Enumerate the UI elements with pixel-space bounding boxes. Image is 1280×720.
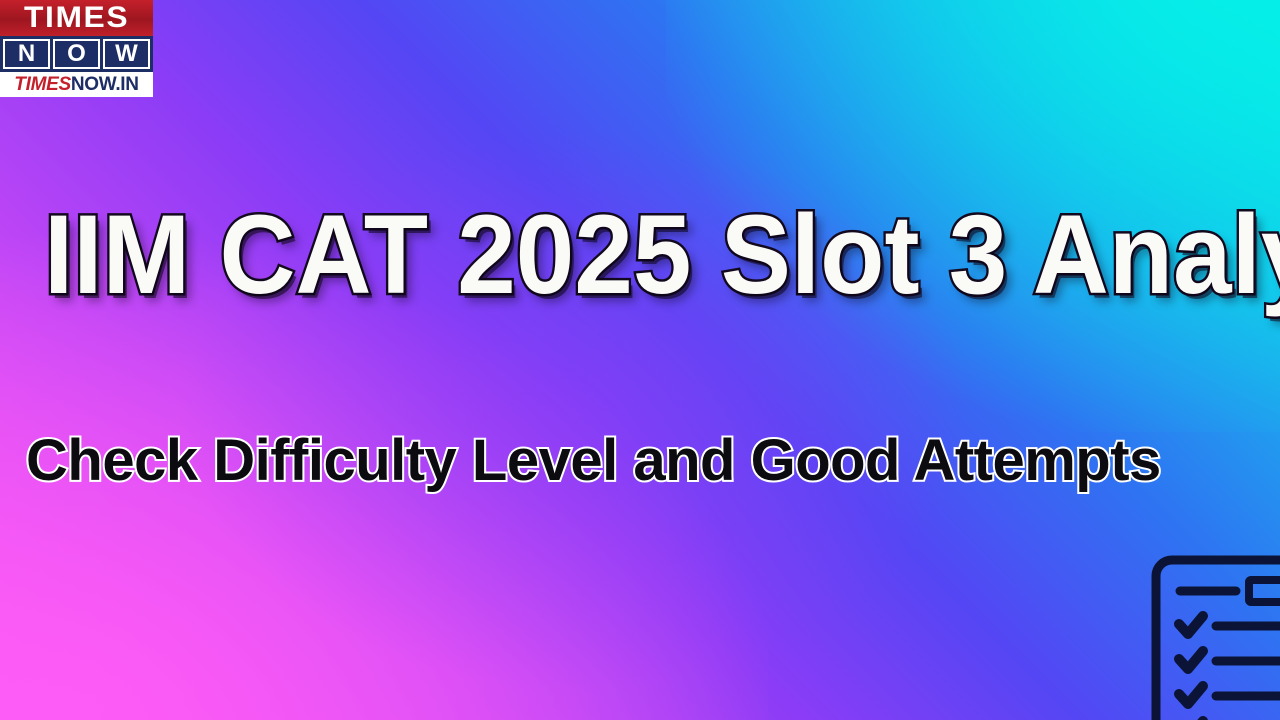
logo-url-times: TIMES — [14, 74, 71, 96]
promo-banner: TIMES N O W TIMESNOW.IN IIM CAT 2025 Slo… — [0, 0, 1280, 720]
banner-headline: IIM CAT 2025 Slot 3 Analysis — [44, 196, 1164, 314]
logo-website-url: TIMESNOW.IN — [0, 72, 153, 97]
checklist-document-icon — [1148, 552, 1280, 720]
banner-subtitle: Check Difficulty Level and Good Attempts — [26, 428, 1266, 494]
times-now-logo[interactable]: TIMES N O W TIMESNOW.IN — [0, 0, 153, 97]
logo-now-letter-n: N — [3, 39, 50, 69]
logo-now-letter-o: O — [53, 39, 100, 69]
banner-subtitle-text: Check Difficulty Level and Good Attempts — [26, 428, 1161, 494]
logo-times-text: TIMES — [24, 3, 129, 33]
logo-now-band: N O W — [0, 36, 153, 72]
logo-times-band: TIMES — [0, 0, 153, 36]
logo-url-nowin: NOW.IN — [71, 74, 139, 96]
logo-now-letter-w: W — [103, 39, 150, 69]
